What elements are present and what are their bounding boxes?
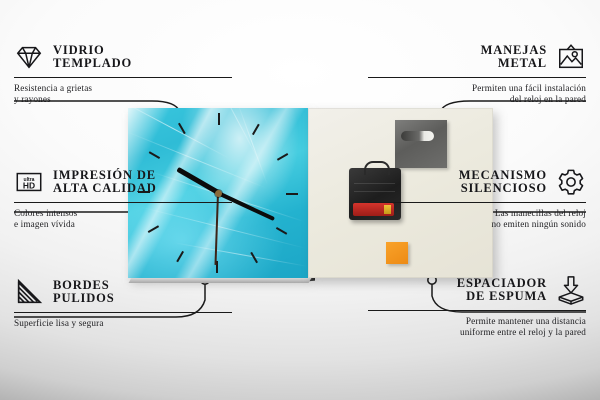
feature-title-line1: ESPACIADOR [457, 277, 547, 291]
feature-title-line2: SILENCIOSO [459, 182, 547, 196]
arrow-down-pad-icon [556, 275, 586, 305]
feature-desc-line2: e imagen vívida [14, 219, 232, 230]
feature-desc-line1: Resistencia a grietas [14, 83, 232, 94]
feature-desc-line2: uniforme entre el reloj y la pared [368, 327, 586, 338]
feature-espaciador-espuma: ESPACIADOR DE ESPUMA Permite mantener un… [368, 275, 586, 338]
svg-text:HD: HD [23, 181, 35, 191]
feature-title-line2: ALTA CALIDAD [53, 182, 157, 196]
feature-manejas-metal: MANEJAS METAL Permiten una fácil instala… [368, 42, 586, 105]
feature-desc-line2: y rayones [14, 94, 232, 105]
feature-divider [368, 77, 586, 78]
feature-desc-line1: Las manecillas del reloj [368, 208, 586, 219]
feature-title-line1: MECANISMO [459, 169, 547, 183]
feature-title-line2: METAL [481, 57, 547, 71]
feature-impresion-alta-calidad: ultra HD IMPRESIÓN DE ALTA CALIDAD Color… [14, 167, 232, 230]
feature-title-line1: MANEJAS [481, 44, 547, 58]
feature-title-line1: BORDES [53, 279, 115, 293]
feature-desc-line2: del reloj en la pared [368, 94, 586, 105]
gear-icon [556, 167, 586, 197]
feature-vidrio-templado: VIDRIO TEMPLADO Resistencia a grietas y … [14, 42, 232, 105]
feature-mecanismo-silencioso: MECANISMO SILENCIOSO Las manecillas del … [368, 167, 586, 230]
feature-bordes-pulidos: BORDES PULIDOS Superficie lisa y segura [14, 277, 232, 329]
feature-title-line1: IMPRESIÓN DE [53, 169, 157, 183]
feature-title-line2: TEMPLADO [53, 57, 132, 71]
infographic-stage: VIDRIO TEMPLADO Resistencia a grietas y … [0, 0, 600, 400]
metal-hanger-plate [395, 120, 447, 168]
feature-desc-line2: no emiten ningún sonido [368, 219, 586, 230]
feature-divider [368, 310, 586, 311]
hanger-keyhole-slot [401, 131, 434, 141]
polished-edge-icon [14, 277, 44, 307]
picture-frame-hanger-icon [556, 42, 586, 72]
foam-spacer [386, 242, 408, 264]
feature-title-line2: DE ESPUMA [457, 290, 547, 304]
feature-divider [368, 202, 586, 203]
feature-desc-line1: Superficie lisa y segura [14, 318, 232, 329]
feature-title-line1: VIDRIO [53, 44, 132, 58]
feature-divider [14, 312, 232, 313]
feature-divider [14, 202, 232, 203]
diamond-icon [14, 42, 44, 72]
feature-divider [14, 77, 232, 78]
ultra-hd-icon: ultra HD [14, 167, 44, 197]
feature-desc-line1: Colores intensos [14, 208, 232, 219]
feature-title-line2: PULIDOS [53, 292, 115, 306]
feature-desc-line1: Permite mantener una distancia [368, 316, 586, 327]
feature-desc-line1: Permiten una fácil instalación [368, 83, 586, 94]
